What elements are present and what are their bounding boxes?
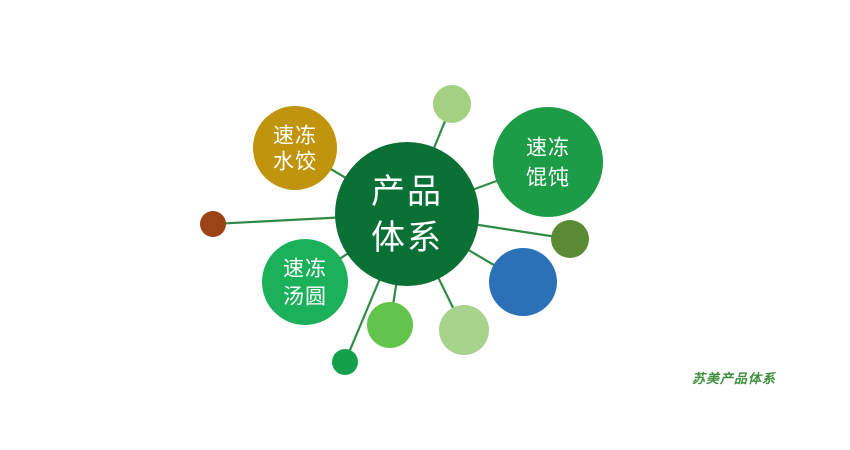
node-brown-left-circle[interactable] xyxy=(200,211,226,237)
node-sudong-tangyuan-label-line1: 速冻 xyxy=(283,258,327,281)
node-sudong-tangyuan-label-line2: 汤圆 xyxy=(283,286,327,309)
node-light-green-top-circle[interactable] xyxy=(433,85,471,123)
node-sudong-tangyuan-circle[interactable] xyxy=(262,239,348,325)
node-sudong-shuijiao-label-line2: 水饺 xyxy=(273,151,317,174)
hub-node-label-line1: 产品 xyxy=(371,173,443,211)
node-sudong-shuijiao-circle[interactable] xyxy=(253,106,337,190)
node-sudong-huntun-label-line1: 速冻 xyxy=(526,137,570,160)
node-sudong-huntun-circle[interactable] xyxy=(493,107,603,217)
diagram-caption: 苏美产品体系 xyxy=(692,368,776,387)
node-bright-green-bottom-circle[interactable] xyxy=(367,302,413,348)
node-sudong-huntun[interactable]: 速冻 馄饨 xyxy=(493,107,603,217)
node-light-green-bottom-circle[interactable] xyxy=(439,305,489,355)
hub-node-label-line2: 体系 xyxy=(371,219,443,257)
node-sudong-shuijiao[interactable]: 速冻 水饺 xyxy=(253,106,337,190)
node-sudong-shuijiao-label-line1: 速冻 xyxy=(273,125,317,148)
node-sudong-tangyuan[interactable]: 速冻 汤圆 xyxy=(262,239,348,325)
node-blue-right-circle[interactable] xyxy=(489,248,557,316)
node-sudong-huntun-label-line2: 馄饨 xyxy=(526,167,570,190)
node-olive-right-circle[interactable] xyxy=(551,220,589,258)
hub-node-circle[interactable] xyxy=(335,142,479,286)
hub-node-product-system[interactable]: 产品 体系 xyxy=(335,142,479,286)
node-green-bottom-left-circle[interactable] xyxy=(332,349,358,375)
